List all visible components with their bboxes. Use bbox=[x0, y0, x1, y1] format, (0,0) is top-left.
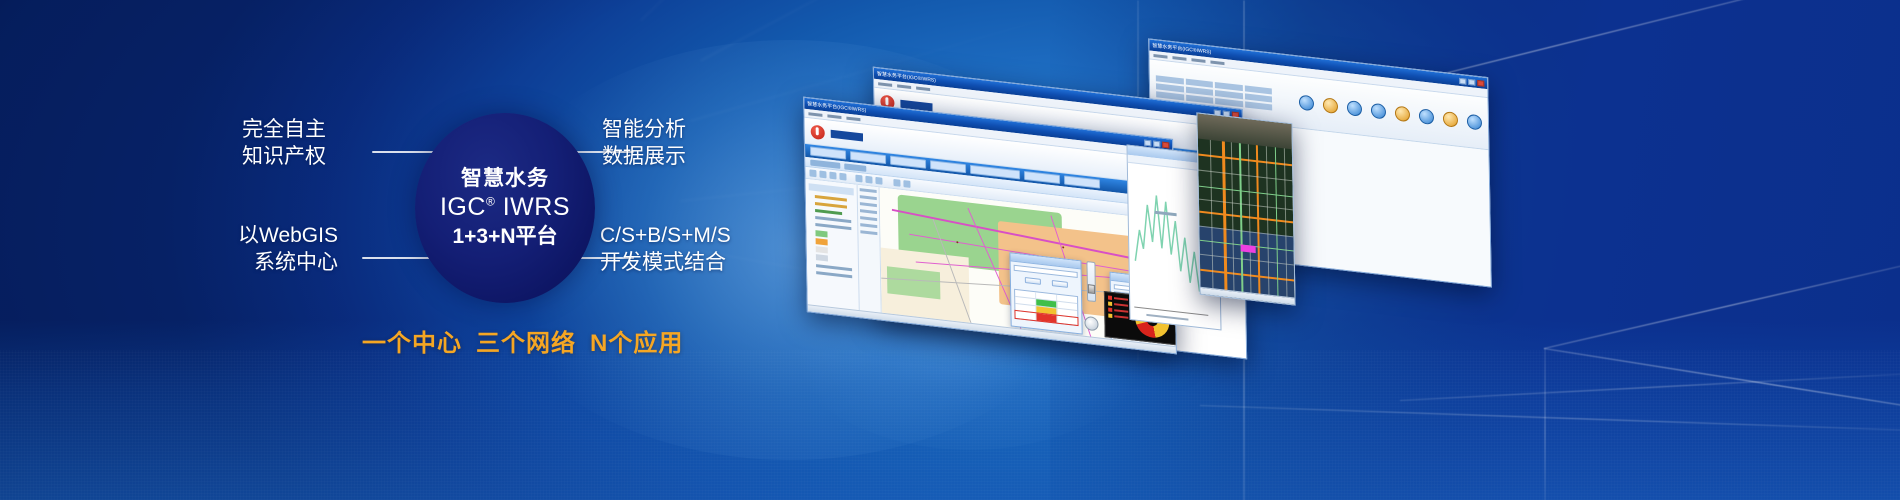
close-icon bbox=[1477, 79, 1484, 86]
satellite-highway bbox=[1199, 211, 1293, 224]
tool-measure-icon bbox=[855, 175, 862, 183]
ribbon-icon-button bbox=[1467, 114, 1482, 131]
menu-item bbox=[878, 82, 892, 87]
layer-tree-item bbox=[815, 216, 851, 223]
feature-label-bottom-right: C/S+B/S+M/S 开发模式结合 bbox=[600, 223, 731, 277]
tool-column-icon bbox=[860, 209, 877, 214]
feature-label-line1: 智能分析 bbox=[602, 117, 686, 144]
feature-label-line1: 以WebGIS bbox=[238, 223, 338, 250]
tagline-part-3: N个应用 bbox=[590, 330, 683, 357]
tool-column-icon bbox=[860, 202, 877, 207]
legend-entry bbox=[1109, 313, 1129, 319]
banner-hero: 完全自主 知识产权 以WebGIS 系统中心 智能分析 数据展示 C/S+B/S… bbox=[0, 0, 1900, 500]
chart-x-label bbox=[1146, 313, 1188, 320]
ribbon-icon-button bbox=[1299, 95, 1314, 112]
ribbon-icon-button bbox=[1371, 103, 1386, 120]
satellite-secondary-road bbox=[1199, 186, 1293, 198]
feature-label-line2: 数据展示 bbox=[602, 144, 686, 171]
menu-item bbox=[916, 86, 930, 91]
maximize-icon bbox=[1468, 78, 1475, 85]
layer-tree-item bbox=[816, 271, 852, 278]
product-prefix: IGC bbox=[440, 193, 486, 221]
legend-swatch bbox=[816, 246, 828, 253]
query-button[interactable] bbox=[1025, 277, 1041, 285]
layer-tree-header bbox=[809, 183, 854, 195]
satellite-minor-road bbox=[1199, 198, 1293, 210]
zoom-slider-knob[interactable] bbox=[1088, 284, 1095, 294]
tool-identify-icon bbox=[865, 176, 872, 184]
tool-export-icon bbox=[903, 180, 910, 188]
tool-pan-icon bbox=[819, 171, 826, 179]
product-suffix: IWRS bbox=[503, 193, 570, 221]
ribbon-big-buttons[interactable] bbox=[1299, 95, 1482, 131]
layer-tree-item bbox=[815, 195, 847, 202]
tool-select-icon bbox=[809, 169, 816, 177]
ribbon-icon-button bbox=[1443, 111, 1458, 128]
satellite-highway bbox=[1198, 153, 1292, 166]
legend-swatch bbox=[815, 230, 827, 237]
feature-label-line2: 开发模式结合 bbox=[600, 250, 731, 277]
maximize-icon bbox=[1153, 140, 1160, 147]
layer-tree-item bbox=[815, 209, 842, 215]
minimize-icon bbox=[1459, 77, 1466, 84]
feature-label-line2: 知识产权 bbox=[242, 144, 326, 171]
tool-zoom-out-icon bbox=[839, 173, 846, 181]
zoom-slider[interactable] bbox=[1086, 261, 1096, 302]
subnav-item bbox=[844, 163, 866, 172]
satellite-imagery bbox=[1197, 113, 1294, 304]
registered-mark-icon: ® bbox=[486, 195, 495, 209]
app-logo-text bbox=[831, 129, 877, 142]
legend-entry bbox=[1109, 301, 1129, 307]
tool-zoom-in-icon bbox=[829, 172, 836, 180]
legend-swatches bbox=[815, 230, 855, 265]
close-icon bbox=[1162, 141, 1169, 148]
tagline-part-1: 一个中心 bbox=[362, 330, 462, 357]
tagline: 一个中心三个网络N个应用 bbox=[362, 323, 683, 358]
menu-item bbox=[808, 112, 822, 117]
menu-item bbox=[1172, 56, 1186, 61]
feature-label-top-right: 智能分析 数据展示 bbox=[602, 117, 686, 171]
perspective-line bbox=[1545, 349, 1546, 500]
tool-column-icon bbox=[860, 195, 877, 200]
feature-label-line1: C/S+B/S+M/S bbox=[600, 223, 731, 250]
minimize-icon bbox=[1144, 139, 1151, 146]
hero-diagram: 完全自主 知识产权 以WebGIS 系统中心 智能分析 数据展示 C/S+B/S… bbox=[250, 95, 810, 385]
satellite-minor-road bbox=[1198, 169, 1292, 181]
layer-tree-item bbox=[816, 264, 852, 271]
feature-label-bottom-left: 以WebGIS 系统中心 bbox=[238, 223, 338, 277]
water-drop-logo-icon bbox=[811, 124, 825, 140]
layer-tree-item bbox=[815, 223, 851, 230]
ribbon-icon-button bbox=[1395, 106, 1410, 123]
ellipse-platform-label: 1+3+N平台 bbox=[452, 225, 557, 249]
tool-column-icon bbox=[860, 216, 877, 221]
ribbon-command bbox=[1245, 101, 1273, 110]
feature-label-line1: 完全自主 bbox=[242, 117, 326, 144]
tool-column-icon bbox=[860, 188, 877, 193]
map-analysis-window[interactable]: 智慧水务平台(IGC®IWRS) bbox=[803, 97, 1177, 355]
panel-body[interactable] bbox=[1011, 261, 1082, 329]
legend-swatch bbox=[816, 254, 828, 261]
ellipse-product-name: IGC® IWRS bbox=[440, 193, 570, 222]
zone-query-panel[interactable] bbox=[1010, 252, 1083, 334]
tool-column-icon bbox=[860, 223, 877, 228]
menu-item bbox=[1210, 60, 1224, 65]
ellipse-cn-title: 智慧水务 bbox=[461, 167, 549, 190]
layer-tree-panel[interactable] bbox=[806, 179, 860, 310]
menu-item bbox=[846, 116, 860, 121]
feature-label-line2: 系统中心 bbox=[238, 250, 338, 277]
satellite-map-canvas[interactable] bbox=[1197, 113, 1294, 304]
satellite-window-frame[interactable] bbox=[1196, 112, 1295, 305]
menu-item bbox=[897, 84, 911, 89]
menu-item bbox=[1191, 58, 1205, 63]
tagline-part-2: 三个网络 bbox=[476, 330, 576, 357]
layer-tree-item bbox=[815, 202, 847, 209]
tool-column-icon bbox=[860, 230, 877, 235]
map-tool-column[interactable] bbox=[858, 185, 882, 313]
tool-print-icon bbox=[893, 179, 900, 187]
feature-label-top-left: 完全自主 知识产权 bbox=[242, 117, 326, 171]
legend-entry bbox=[1109, 307, 1129, 313]
ribbon-icon-button bbox=[1323, 97, 1338, 114]
satellite-map-window[interactable] bbox=[1196, 112, 1295, 305]
tool-layers-icon bbox=[875, 177, 882, 185]
ribbon-icon-button bbox=[1419, 108, 1434, 125]
ribbon-icon-button bbox=[1347, 100, 1362, 117]
menu-item bbox=[1153, 53, 1167, 58]
window-controls[interactable] bbox=[1459, 77, 1484, 86]
center-ellipse: 智慧水务 IGC® IWRS 1+3+N平台 bbox=[415, 113, 595, 303]
legend-swatch bbox=[816, 238, 828, 245]
clear-button[interactable] bbox=[1051, 280, 1067, 288]
donut-legend bbox=[1108, 295, 1128, 319]
menu-item bbox=[827, 114, 841, 119]
